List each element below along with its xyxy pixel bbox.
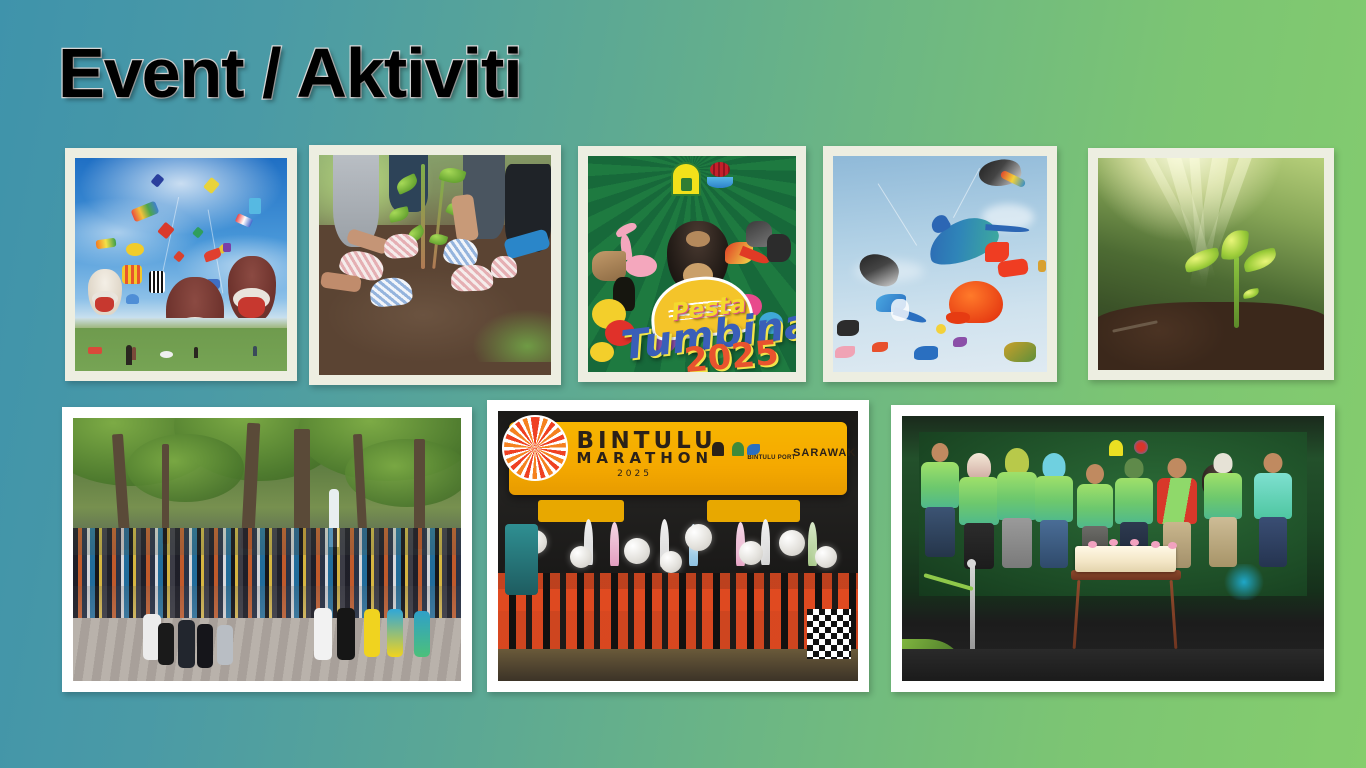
sarawak-crest-icon — [712, 442, 724, 456]
bintulu-marathon-photo[interactable]: BINTULU MARATHON 2025 BINTULU PORT SARAW… — [487, 400, 869, 692]
sunburst-logo — [502, 415, 568, 481]
sponsor-bintulu-port: BINTULU PORT — [747, 455, 795, 461]
cake-cutting-ceremony-image — [902, 416, 1324, 681]
marathon-subtitle: MARATHON — [576, 449, 713, 467]
community-run-photo[interactable] — [62, 407, 472, 692]
animal-kites-image — [833, 156, 1047, 372]
marathon-arch: BINTULU MARATHON 2025 BINTULU PORT SARAW… — [509, 422, 847, 495]
state-emblem-logo — [671, 162, 701, 196]
bintulu-marathon-image: BINTULU MARATHON 2025 BINTULU PORT SARAW… — [498, 411, 858, 681]
poster-year: 2025 — [682, 333, 780, 372]
kite-festival-photo[interactable] — [65, 148, 297, 381]
seedling-image — [1098, 158, 1324, 370]
community-run-image — [73, 418, 461, 681]
council-globe-logo — [707, 162, 733, 192]
animal-kites-photo[interactable] — [823, 146, 1057, 382]
ceremonial-cake — [1075, 546, 1176, 573]
page-title: Event / Aktiviti — [58, 36, 522, 112]
marathon-year: 2025 — [617, 469, 652, 479]
cake-cutting-ceremony-photo[interactable] — [891, 405, 1335, 692]
council-logo-icon — [1134, 440, 1148, 454]
slide-canvas: Event / Aktiviti — [0, 0, 1366, 768]
tree-planting-photo[interactable] — [309, 145, 561, 385]
seedling-photo[interactable] — [1088, 148, 1334, 380]
tree-planting-image — [319, 155, 551, 375]
bintulu-port-icon — [747, 444, 760, 455]
state-emblem-icon — [1109, 440, 1123, 456]
bintulu-council-icon — [732, 442, 744, 456]
checkered-flag-icon — [807, 609, 851, 659]
kite-festival-image — [75, 158, 287, 371]
pesta-tumbina-image: Pesta Tumbina 2025 — [588, 156, 796, 372]
pesta-tumbina-poster[interactable]: Pesta Tumbina 2025 — [578, 146, 806, 382]
sponsor-sarawak: SARAWAK — [793, 447, 856, 459]
